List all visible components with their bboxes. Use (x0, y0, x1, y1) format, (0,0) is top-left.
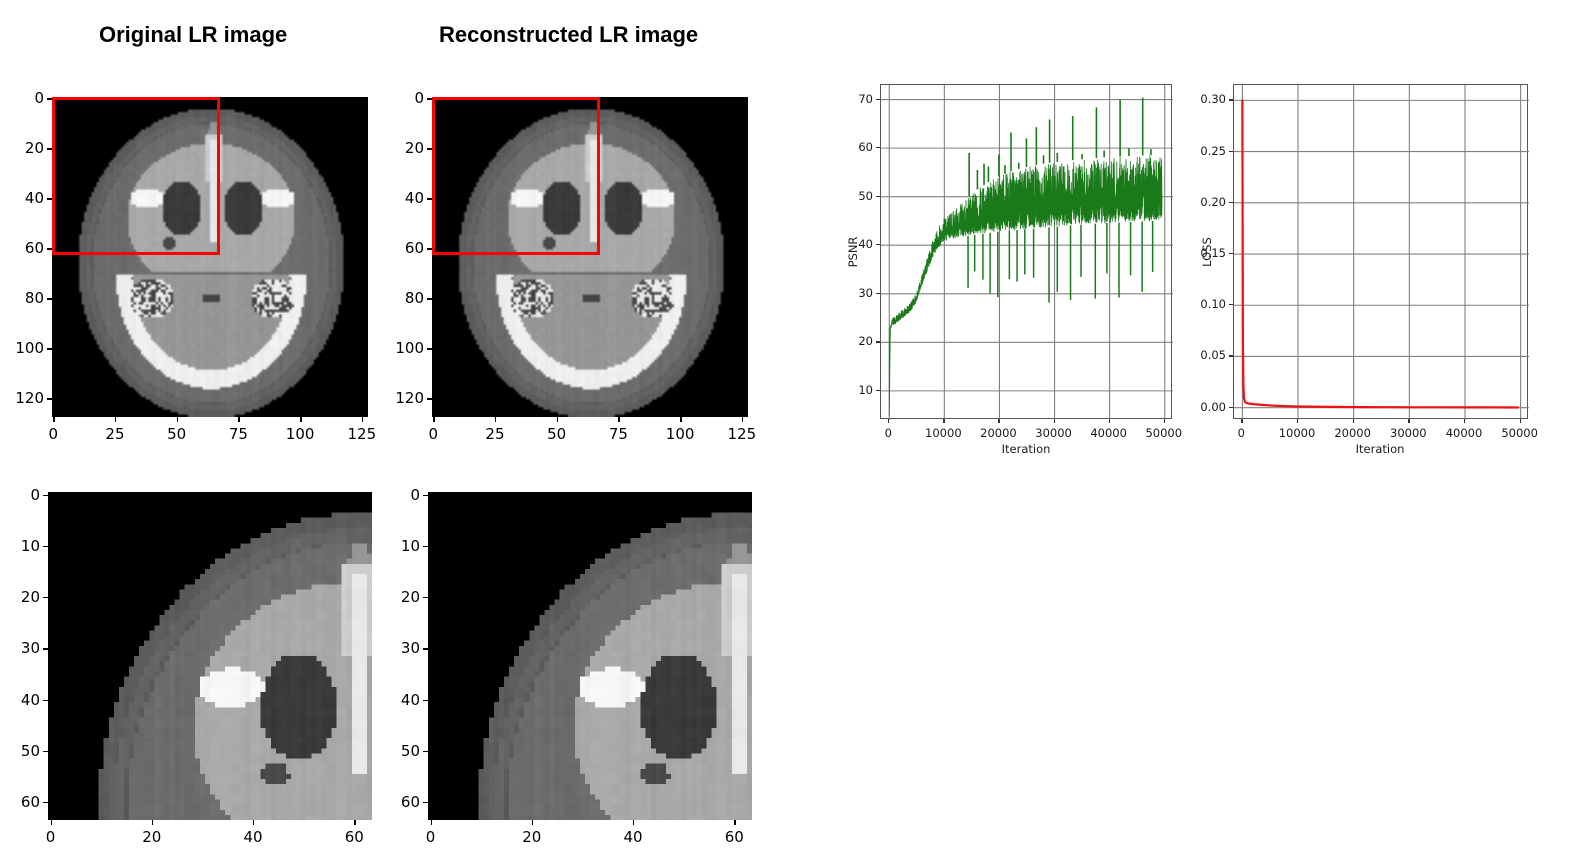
y-tick-label: 50 (840, 189, 873, 203)
y-tick-mark (427, 98, 432, 99)
y-tick-mark (1229, 355, 1233, 356)
y-tick-mark (1229, 151, 1233, 152)
x-tick-mark (53, 417, 54, 422)
x-tick-label: 0 (885, 426, 892, 440)
y-tick-label: 0.20 (1193, 195, 1226, 209)
x-tick-mark (1297, 419, 1298, 423)
x-tick-label: 40000 (1446, 426, 1483, 440)
x-tick-mark (1353, 419, 1354, 423)
y-tick-mark (43, 597, 48, 598)
x-tick-mark (115, 417, 116, 422)
x-tick-mark (51, 820, 52, 825)
loss-ylabel: LOSS (1200, 237, 1214, 267)
x-tick-label: 30000 (1035, 426, 1072, 440)
x-tick-mark (1408, 419, 1409, 423)
x-tick-mark (1241, 419, 1242, 423)
x-tick-label: 30000 (1390, 426, 1427, 440)
panel-reconstructed-lr-image: 0255075100125020406080100120 (380, 0, 780, 460)
x-tick-label: 60 (345, 828, 364, 846)
x-tick-label: 40000 (1090, 426, 1127, 440)
y-tick-label: 80 (384, 289, 424, 307)
y-tick-mark (47, 348, 52, 349)
x-tick-mark (1054, 419, 1055, 423)
x-tick-label: 75 (229, 425, 248, 443)
y-tick-label: 30 (0, 639, 40, 657)
x-tick-mark (633, 820, 634, 825)
y-tick-mark (427, 248, 432, 249)
x-tick-mark (354, 820, 355, 825)
y-tick-mark (876, 244, 880, 245)
y-tick-label: 30 (380, 639, 420, 657)
y-tick-label: 60 (4, 239, 44, 257)
x-tick-mark (680, 417, 681, 422)
y-tick-label: 10 (840, 383, 873, 397)
x-tick-label: 0 (48, 425, 58, 443)
x-tick-label: 125 (348, 425, 377, 443)
x-tick-label: 50000 (1501, 426, 1538, 440)
x-tick-label: 0 (428, 425, 438, 443)
y-tick-label: 60 (384, 239, 424, 257)
x-tick-label: 100 (286, 425, 315, 443)
psnr-plot-area[interactable] (880, 84, 1172, 419)
y-tick-mark (876, 99, 880, 100)
x-tick-mark (1109, 419, 1110, 423)
y-tick-label: 60 (0, 793, 40, 811)
y-tick-mark (43, 700, 48, 701)
y-tick-label: 20 (840, 334, 873, 348)
x-tick-mark (532, 820, 533, 825)
x-tick-label: 75 (609, 425, 628, 443)
y-tick-mark (423, 700, 428, 701)
y-tick-label: 40 (0, 691, 40, 709)
x-tick-label: 20000 (980, 426, 1017, 440)
y-tick-mark (876, 147, 880, 148)
panel-original-lr-image: 0255075100125020406080100120 (0, 0, 400, 460)
x-tick-mark (742, 417, 743, 422)
original-lr-image-frame[interactable] (52, 97, 368, 417)
x-tick-mark (431, 820, 432, 825)
x-tick-mark (1164, 419, 1165, 423)
y-tick-label: 50 (380, 742, 420, 760)
psnr-curve-svg (881, 85, 1173, 420)
y-tick-mark (423, 546, 428, 547)
loss-curve-svg (1234, 85, 1529, 420)
y-tick-label: 0.05 (1193, 348, 1226, 362)
y-tick-label: 40 (4, 189, 44, 207)
x-tick-mark (557, 417, 558, 422)
x-tick-label: 25 (485, 425, 504, 443)
y-tick-label: 60 (840, 140, 873, 154)
y-tick-mark (1229, 304, 1233, 305)
y-tick-label: 70 (840, 92, 873, 106)
x-tick-label: 50 (167, 425, 186, 443)
y-tick-mark (876, 293, 880, 294)
loss-plot-area[interactable] (1233, 84, 1528, 419)
x-tick-mark (177, 417, 178, 422)
y-tick-label: 10 (380, 537, 420, 555)
y-tick-mark (47, 98, 52, 99)
y-tick-label: 80 (4, 289, 44, 307)
ct-crop-original (48, 492, 372, 820)
y-tick-label: 120 (384, 389, 424, 407)
y-tick-label: 0.10 (1193, 297, 1226, 311)
y-tick-mark (876, 390, 880, 391)
x-tick-label: 50000 (1145, 426, 1182, 440)
x-tick-mark (1464, 419, 1465, 423)
x-tick-label: 25 (105, 425, 124, 443)
y-tick-mark (43, 751, 48, 752)
psnr-ylabel: PSNR (846, 237, 860, 268)
x-tick-mark (734, 820, 735, 825)
x-tick-label: 40 (243, 828, 262, 846)
y-tick-mark (1229, 202, 1233, 203)
y-tick-mark (47, 298, 52, 299)
x-tick-mark (433, 417, 434, 422)
y-tick-label: 0.30 (1193, 92, 1226, 106)
y-tick-label: 40 (384, 189, 424, 207)
x-tick-mark (238, 417, 239, 422)
panel-reconstructed-lr-crop: 02040600102030405060 (380, 460, 780, 864)
y-tick-label: 20 (0, 588, 40, 606)
y-tick-mark (1229, 253, 1233, 254)
x-tick-mark (253, 820, 254, 825)
x-tick-mark (1520, 419, 1521, 423)
x-tick-label: 0 (426, 828, 436, 846)
y-tick-mark (47, 148, 52, 149)
x-tick-mark (300, 417, 301, 422)
reconstructed-lr-crop-frame[interactable] (428, 492, 752, 820)
loss-chart: 010000200003000040000500000.000.050.100.… (1190, 70, 1572, 450)
y-tick-label: 10 (0, 537, 40, 555)
reconstructed-lr-image-frame[interactable] (432, 97, 748, 417)
y-tick-label: 0 (380, 486, 420, 504)
y-tick-mark (47, 398, 52, 399)
loss-xlabel: Iteration (1356, 442, 1405, 456)
y-tick-label: 0 (0, 486, 40, 504)
y-tick-label: 20 (384, 139, 424, 157)
psnr-xlabel: Iteration (1002, 442, 1051, 456)
y-tick-label: 0 (4, 89, 44, 107)
panel-original-lr-crop: 02040600102030405060 (0, 460, 400, 864)
y-tick-mark (423, 802, 428, 803)
y-tick-label: 40 (380, 691, 420, 709)
y-tick-label: 20 (4, 139, 44, 157)
y-tick-label: 0.00 (1193, 400, 1226, 414)
y-tick-mark (1229, 407, 1233, 408)
y-tick-mark (47, 248, 52, 249)
y-tick-mark (876, 341, 880, 342)
y-tick-mark (427, 398, 432, 399)
y-tick-mark (423, 648, 428, 649)
x-tick-label: 50 (547, 425, 566, 443)
y-tick-mark (876, 196, 880, 197)
y-tick-label: 0.25 (1193, 144, 1226, 158)
ct-full-slice-reconstructed (432, 97, 748, 417)
x-tick-label: 10000 (925, 426, 962, 440)
x-tick-label: 0 (1238, 426, 1245, 440)
x-tick-mark (362, 417, 363, 422)
y-tick-mark (43, 648, 48, 649)
y-tick-mark (423, 751, 428, 752)
ct-crop-reconstructed (428, 492, 752, 820)
y-tick-label: 20 (380, 588, 420, 606)
y-tick-label: 100 (384, 339, 424, 357)
y-tick-mark (1229, 99, 1233, 100)
x-tick-mark (998, 419, 999, 423)
y-tick-mark (43, 546, 48, 547)
x-tick-label: 125 (728, 425, 757, 443)
y-tick-label: 100 (4, 339, 44, 357)
x-tick-label: 20 (522, 828, 541, 846)
y-tick-mark (427, 348, 432, 349)
psnr-chart: 0100002000030000400005000010203040506070… (836, 70, 1196, 450)
y-tick-mark (427, 148, 432, 149)
y-tick-label: 120 (4, 389, 44, 407)
x-tick-mark (152, 820, 153, 825)
y-tick-mark (423, 495, 428, 496)
y-tick-label: 60 (380, 793, 420, 811)
x-tick-mark (618, 417, 619, 422)
x-tick-label: 20000 (1334, 426, 1371, 440)
x-tick-label: 60 (725, 828, 744, 846)
x-tick-label: 0 (46, 828, 56, 846)
x-tick-label: 10000 (1279, 426, 1316, 440)
y-tick-mark (427, 298, 432, 299)
x-tick-mark (888, 419, 889, 423)
x-tick-mark (495, 417, 496, 422)
y-tick-mark (43, 495, 48, 496)
original-lr-crop-frame[interactable] (48, 492, 372, 820)
y-tick-label: 50 (0, 742, 40, 760)
y-tick-mark (47, 198, 52, 199)
x-tick-mark (943, 419, 944, 423)
y-tick-mark (43, 802, 48, 803)
y-tick-mark (423, 597, 428, 598)
x-tick-label: 20 (142, 828, 161, 846)
y-tick-label: 0 (384, 89, 424, 107)
y-tick-label: 30 (840, 286, 873, 300)
x-tick-label: 40 (623, 828, 642, 846)
x-tick-label: 100 (666, 425, 695, 443)
ct-full-slice-original (52, 97, 368, 417)
y-tick-mark (427, 198, 432, 199)
